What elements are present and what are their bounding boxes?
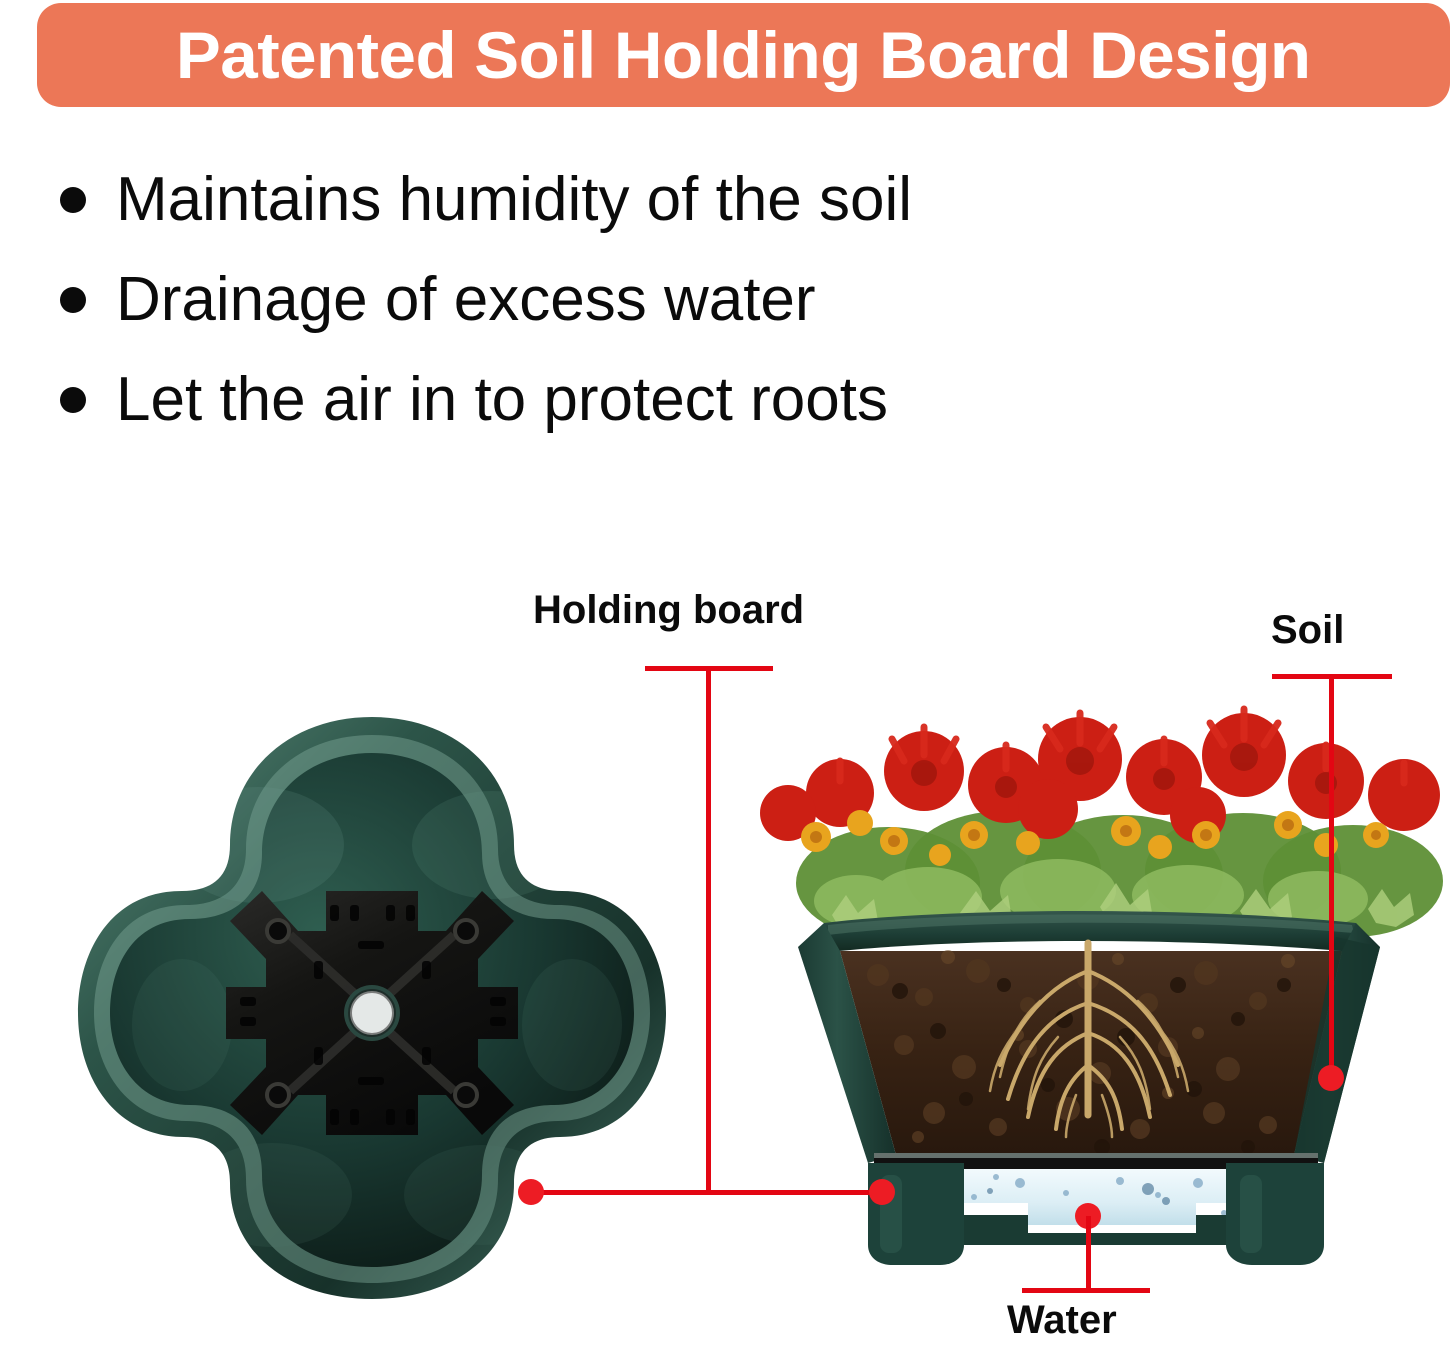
quatrefoil-planter-photo xyxy=(62,695,682,1320)
leader-dot-cutaway-insert xyxy=(869,1179,895,1205)
leader-stem-water xyxy=(1086,1216,1091,1290)
leader-dot-left-insert xyxy=(518,1179,544,1205)
bullet-point-icon xyxy=(60,387,86,413)
bullet-label: Drainage of excess water xyxy=(116,269,816,331)
bullet-point-icon xyxy=(60,187,86,213)
page-title: Patented Soil Holding Board Design xyxy=(176,22,1311,88)
product-diagram: Holding board Soil Water xyxy=(0,470,1456,1361)
leader-stem-holding-board xyxy=(706,666,711,1192)
chrysanthemum-plants xyxy=(760,709,1443,939)
callout-label-soil: Soil xyxy=(1271,610,1344,650)
bullet-label: Maintains humidity of the soil xyxy=(116,169,912,231)
holding-board-insert xyxy=(226,891,518,1135)
callout-label-holding-board: Holding board xyxy=(533,590,804,630)
bullet-label: Let the air in to protect roots xyxy=(116,369,888,431)
leader-stem-soil xyxy=(1329,674,1334,1074)
list-item: Let the air in to protect roots xyxy=(60,350,1160,450)
feature-bullet-list: Maintains humidity of the soil Drainage … xyxy=(60,150,1160,450)
callout-label-water: Water xyxy=(1007,1300,1117,1340)
list-item: Drainage of excess water xyxy=(60,250,1160,350)
bullet-point-icon xyxy=(60,287,86,313)
list-item: Maintains humidity of the soil xyxy=(60,150,1160,250)
leader-spine-holding-board xyxy=(530,1190,884,1195)
header-banner: Patented Soil Holding Board Design xyxy=(37,3,1450,107)
leader-cap-water xyxy=(1022,1288,1150,1293)
leader-dot-soil xyxy=(1318,1065,1344,1091)
